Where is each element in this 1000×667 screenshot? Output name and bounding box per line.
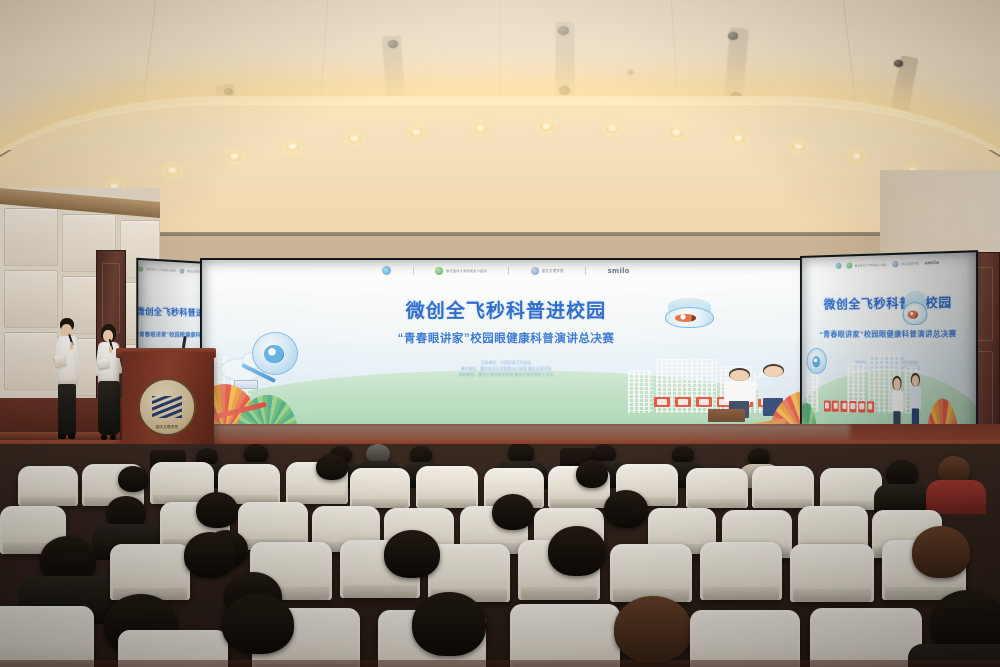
soffit-downlight	[348, 134, 361, 143]
soffit-downlight	[732, 134, 745, 143]
audience-head	[118, 466, 148, 492]
audience-head	[912, 526, 970, 578]
right-led-screen-panel: 重庆医科大学附属永川医院 重庆文理学院 smilo 微创全飞秒科普进校园 “青春…	[800, 250, 978, 446]
university-logo-label: 重庆文理学院	[542, 268, 564, 273]
organizer-label: 协办单位：	[459, 372, 478, 377]
soffit-downlight	[792, 142, 805, 151]
soffit-downlight	[474, 124, 487, 133]
organizer-label: 主办单位：	[481, 360, 500, 365]
logo-chip-wave	[382, 266, 391, 275]
logo-chip: 重庆文理学院	[180, 268, 202, 274]
audience-seat[interactable]	[752, 466, 814, 508]
logo-chip	[835, 263, 841, 269]
soffit-downlight	[850, 152, 863, 161]
banner-flag	[824, 400, 831, 411]
main-slide-content: 重庆医科大学附属永川医院 重庆文理学院 smilo 微创全飞秒科普进校园 “青春…	[200, 258, 812, 438]
blue-robot-mascot	[252, 332, 298, 375]
audience-seat[interactable]	[510, 604, 620, 667]
smilo-logo: smilo	[924, 261, 939, 267]
banner-flag	[849, 400, 856, 411]
soffit-downlight	[286, 142, 299, 151]
ceiling-sprinkler	[628, 70, 633, 75]
audience-shoulders	[926, 480, 986, 514]
audience-seat[interactable]	[700, 542, 782, 600]
soffit-downlight	[606, 124, 619, 133]
logo-chip: 重庆医科大学附属永川医院	[846, 262, 887, 269]
left-screen-subtitle: “青春眼讲家”校园眼健康科普演讲总决赛	[136, 330, 208, 339]
audience-seat[interactable]	[416, 466, 478, 508]
seated-audience	[0, 444, 1000, 667]
university-logo-icon	[531, 267, 539, 275]
audience-seat[interactable]	[686, 468, 748, 508]
hospital-logo-icon	[435, 267, 443, 275]
audience-head	[548, 526, 606, 576]
audience-seat[interactable]	[610, 544, 692, 602]
logo-chip-university: 重庆文理学院	[531, 267, 564, 275]
ceiling-speaker	[558, 26, 569, 35]
logo-chip-hospital: 重庆医科大学附属永川医院	[435, 267, 487, 275]
banner-flag	[675, 397, 691, 408]
soffit-downlight	[410, 128, 423, 137]
organizer-value: 重庆医科大学附属永川医院 重庆文理学院	[480, 366, 551, 371]
banner-flag	[832, 400, 839, 411]
banner-flag	[841, 400, 848, 411]
hospital-logo-label: 重庆医科大学附属永川医院	[446, 268, 487, 273]
audience-head	[604, 490, 648, 528]
audience-seat[interactable]	[810, 608, 922, 667]
host-male	[48, 318, 88, 440]
ceiling-speaker	[894, 60, 903, 67]
wave-crest-emblem-icon	[152, 396, 182, 418]
banner-flag	[654, 397, 670, 408]
banner-flag	[696, 397, 712, 408]
logo-label: 重庆医科大学附属永川医院	[146, 267, 176, 273]
host-shoe	[101, 435, 107, 440]
eye-mascot	[902, 302, 927, 325]
audience-head	[196, 492, 238, 528]
audience-seat[interactable]	[820, 468, 882, 510]
center-led-screen: 重庆医科大学附属永川医院 重庆文理学院 smilo 微创全飞秒科普进校园 “青春…	[200, 258, 812, 438]
audience-seat[interactable]	[790, 544, 874, 602]
book-icon	[708, 409, 745, 422]
organizer-value: 中国民族卫生协会	[500, 360, 531, 365]
logo-chip: 重庆文理学院	[892, 261, 919, 268]
soffit-downlight	[670, 128, 683, 137]
audience-head	[222, 594, 294, 654]
host-shoe	[110, 435, 116, 440]
eye-mascot	[665, 307, 714, 329]
audience-head	[614, 596, 692, 662]
audience-head	[492, 494, 534, 530]
ceiling-speaker	[224, 88, 233, 95]
audience-seat[interactable]	[18, 466, 78, 506]
host-hand	[70, 342, 74, 349]
host-shoe	[58, 434, 65, 439]
podium-emblem-text: 重庆文理学院	[140, 424, 194, 429]
organizer-value: 重庆文理学院宣传部 重庆文理学院红十字会	[478, 372, 553, 377]
ceiling-speaker	[728, 32, 738, 40]
audience-seat[interactable]	[690, 610, 800, 667]
soffit-downlight	[540, 122, 553, 131]
right-screen-title: 微创全飞秒科普进校园	[800, 293, 978, 313]
audience-head	[576, 460, 608, 488]
audience-head	[384, 530, 440, 578]
student-illustration	[908, 375, 924, 431]
organizer-label: 承办单位：	[461, 366, 480, 371]
auditorium-event-photo: 重庆医科大学附属永川医院 重庆文理学院 smilo 微创全飞秒科普进校园 “青春…	[0, 0, 1000, 667]
host-skirt	[98, 381, 120, 435]
sponsor-logo-strip: 重庆医科大学附属永川医院 重庆文理学院 smilo	[200, 266, 812, 275]
host-shoe	[68, 434, 75, 439]
left-screen-title: 微创全飞秒科普进校园	[136, 305, 208, 319]
logo-label: 重庆文理学院	[901, 262, 919, 267]
logo-label: 重庆医科大学附属永川医院	[855, 263, 887, 268]
audience-head	[184, 532, 236, 578]
banner-flag	[858, 401, 865, 412]
wave-logo-icon	[382, 266, 391, 275]
banner-flag	[867, 401, 874, 412]
audience-head	[244, 444, 268, 464]
right-slide-content: 重庆医科大学附属永川医院 重庆文理学院 smilo 微创全飞秒科普进校园 “青春…	[800, 250, 978, 446]
ceiling-speaker	[388, 40, 398, 48]
blue-robot-mascot	[807, 348, 827, 374]
ceiling-speaker	[559, 86, 570, 95]
soffit-downlight	[228, 152, 241, 161]
smilo-logo: smilo	[608, 267, 630, 275]
audience-seat[interactable]	[110, 544, 190, 600]
soffit-downlight	[166, 166, 179, 175]
right-screen-subtitle: “青春眼讲家”校园眼健康科普演讲总决赛	[800, 328, 978, 339]
audience-seat[interactable]	[0, 606, 94, 667]
host-trousers	[58, 384, 76, 435]
audience-seat[interactable]	[350, 468, 410, 508]
podium-emblem: 重庆文理学院	[138, 378, 196, 436]
audience-head	[316, 454, 348, 480]
audience-head	[412, 592, 486, 656]
main-screen-title: 微创全飞秒科普进校园	[200, 296, 812, 323]
